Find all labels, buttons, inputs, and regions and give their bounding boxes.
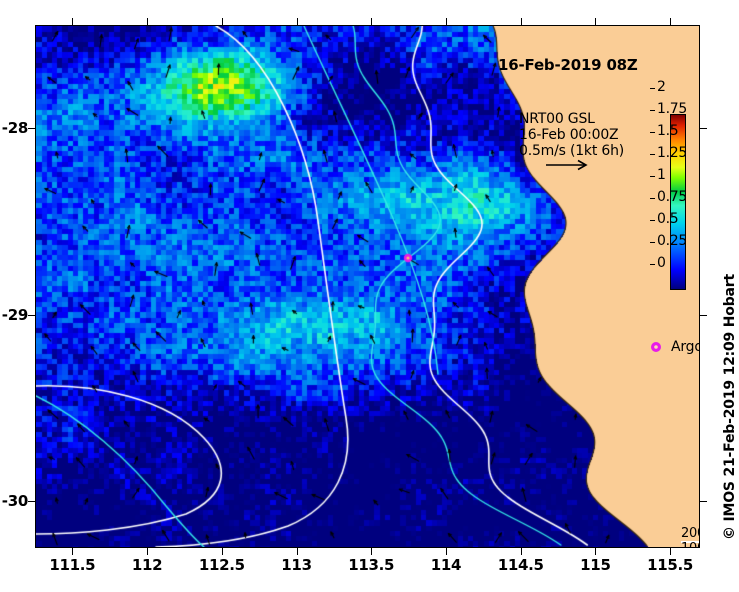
right-arrow-icon — [545, 159, 591, 171]
x-tick-114.5 — [521, 18, 522, 25]
y-tick--28 — [700, 128, 707, 129]
y-tick--29 — [700, 315, 707, 316]
colorbar-label-0: 0 — [657, 255, 666, 271]
sst-age-heatmap — [36, 26, 699, 547]
annotation-line-3: 0.5m/s (1kt 6h) — [519, 143, 624, 159]
x-tick-label-112: 112 — [112, 556, 182, 574]
x-tick-115 — [595, 18, 596, 25]
colorbar-tick-0 — [650, 264, 655, 265]
x-tick-115.5 — [670, 18, 671, 25]
colorbar-label-1: 1 — [657, 167, 666, 183]
colorbar-tick-2 — [650, 88, 655, 89]
y-tick-label--30: -30 — [0, 492, 28, 510]
x-tick-112.5 — [222, 548, 223, 555]
x-tick-label-115.5: 115.5 — [635, 556, 705, 574]
y-tick-label--29: -29 — [0, 306, 28, 324]
colorbar-tick-0.25 — [650, 242, 655, 243]
x-tick-113.5 — [371, 18, 372, 25]
argo-legend-label: Argo — [671, 339, 700, 355]
y-tick--29 — [28, 315, 35, 316]
annotation-line-1: NRT00 GSL — [519, 111, 624, 127]
x-tick-label-112.5: 112.5 — [187, 556, 257, 574]
argo-marker-icon — [650, 341, 662, 353]
map-plot-area[interactable]: 16-Feb-2019 08Z NRT00 GSL 16-Feb 00:00Z … — [35, 25, 700, 548]
x-tick-label-113: 113 — [262, 556, 332, 574]
argo-legend: Argo — [650, 339, 700, 355]
depth-contour-legend: 200m 1000m — [681, 526, 700, 548]
x-tick-label-114.5: 114.5 — [486, 556, 556, 574]
x-tick-113 — [297, 548, 298, 555]
y-tick--30 — [700, 501, 707, 502]
colorbar-tick-0.5 — [650, 220, 655, 221]
depth-200-label: 200m — [681, 526, 700, 541]
x-tick-111.5 — [72, 18, 73, 25]
x-tick-112 — [147, 548, 148, 555]
colorbar-tick-0.75 — [650, 198, 655, 199]
colorbar-label-0.75: 0.75 — [657, 189, 687, 205]
x-tick-113.5 — [371, 548, 372, 555]
colorbar-tick-1.25 — [650, 154, 655, 155]
x-tick-113 — [297, 18, 298, 25]
page-title: 16-Feb-2019 08Z — [498, 56, 638, 74]
colorbar-tick-1 — [650, 176, 655, 177]
colorbar-tick-1.5 — [650, 132, 655, 133]
colorbar-label-1.25: 1.25 — [657, 145, 687, 161]
y-tick--28 — [28, 128, 35, 129]
x-tick-114.5 — [521, 548, 522, 555]
x-tick-112.5 — [222, 18, 223, 25]
colorbar-tick-1.75 — [650, 110, 655, 111]
depth-1000-row: 1000m — [681, 541, 700, 548]
colorbar-label-1.5: 1.5 — [657, 123, 678, 139]
x-tick-label-114: 114 — [411, 556, 481, 574]
current-annotation: NRT00 GSL 16-Feb 00:00Z 0.5m/s (1kt 6h) — [519, 111, 624, 159]
x-tick-115 — [595, 548, 596, 555]
x-tick-114 — [446, 18, 447, 25]
x-tick-label-111.5: 111.5 — [37, 556, 107, 574]
depth-200-row: 200m — [681, 526, 700, 541]
colorbar-label-0.25: 0.25 — [657, 233, 687, 249]
y-tick--30 — [28, 501, 35, 502]
x-tick-label-115: 115 — [560, 556, 630, 574]
x-tick-111.5 — [72, 548, 73, 555]
depth-1000-label: 1000m — [681, 541, 700, 548]
colorbar-label-1.75: 1.75 — [657, 101, 687, 117]
y-tick-label--28: -28 — [0, 119, 28, 137]
colorbar-label-0.5: 0.5 — [657, 211, 678, 227]
figure-root: 16-Feb-2019 08Z NRT00 GSL 16-Feb 00:00Z … — [0, 0, 739, 592]
x-tick-label-113.5: 113.5 — [336, 556, 406, 574]
colorbar-label-2: 2 — [657, 79, 666, 95]
x-tick-114 — [446, 548, 447, 555]
annotation-line-2: 16-Feb 00:00Z — [519, 127, 624, 143]
copyright-credit: © IMOS 21-Feb-2019 12:09 Hobart — [722, 274, 738, 540]
x-tick-115.5 — [670, 548, 671, 555]
x-tick-112 — [147, 18, 148, 25]
